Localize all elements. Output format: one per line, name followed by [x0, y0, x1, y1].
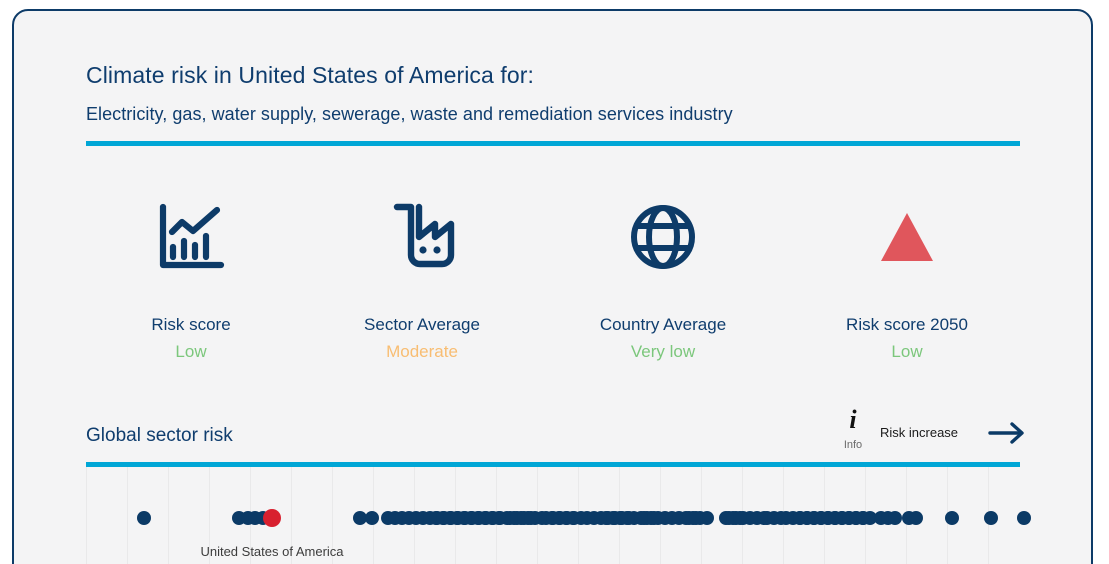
- metric-label: Risk score 2050: [802, 315, 1012, 335]
- factory-icon: [317, 191, 527, 283]
- metric-sector-average: Sector Average Moderate: [317, 191, 527, 362]
- dot-plot-point[interactable]: [574, 511, 588, 525]
- dot-plot-point[interactable]: [137, 511, 151, 525]
- dot-plot-point[interactable]: [647, 511, 661, 525]
- dot-plot-point[interactable]: [733, 511, 747, 525]
- metric-country-average: Country Average Very low: [558, 191, 768, 362]
- dot-plot-point[interactable]: [634, 511, 648, 525]
- dot-plot-point[interactable]: [689, 511, 703, 525]
- industry-subtitle: Electricity, gas, water supply, sewerage…: [86, 104, 733, 125]
- dot-plot-point[interactable]: [888, 511, 902, 525]
- dot-plot-point[interactable]: [856, 511, 870, 525]
- bar-chart-trend-icon: [86, 191, 296, 283]
- page-title: Climate risk in United States of America…: [86, 62, 534, 89]
- dot-plot-point-highlighted[interactable]: [263, 509, 281, 527]
- metric-label: Risk score: [86, 315, 296, 335]
- gridline: [86, 467, 87, 564]
- gridline: [127, 467, 128, 564]
- global-sector-risk-dotplot[interactable]: United States of America: [86, 467, 1020, 564]
- metric-value: Low: [86, 342, 296, 362]
- dot-plot-point[interactable]: [492, 511, 506, 525]
- metric-risk-score-2050: Risk score 2050 Low: [802, 191, 1012, 362]
- metric-value: Low: [802, 342, 1012, 362]
- risk-increase-label: Risk increase: [880, 425, 958, 440]
- climate-risk-card: Climate risk in United States of America…: [12, 9, 1093, 564]
- metric-label: Country Average: [558, 315, 768, 335]
- highlighted-point-label: United States of America: [200, 544, 343, 559]
- section-heading: Global sector risk: [86, 425, 233, 447]
- dot-plot-point[interactable]: [984, 511, 998, 525]
- info-caption: Info: [829, 439, 877, 451]
- arrow-right-icon[interactable]: [987, 420, 1027, 451]
- metric-risk-score: Risk score Low: [86, 191, 296, 362]
- metric-label: Sector Average: [317, 315, 527, 335]
- dot-plot-point[interactable]: [909, 511, 923, 525]
- metric-value: Moderate: [317, 342, 527, 362]
- info-button[interactable]: i Info: [829, 407, 877, 451]
- info-icon: i: [829, 407, 877, 433]
- gridline: [168, 467, 169, 564]
- metrics-row: Risk score Low Sector Average Moderate: [86, 191, 1020, 371]
- metric-value: Very low: [558, 342, 768, 362]
- dot-plot-point[interactable]: [365, 511, 379, 525]
- screenshot-root: Climate risk in United States of America…: [0, 0, 1109, 564]
- dot-plot-point[interactable]: [1017, 511, 1031, 525]
- header-divider: [86, 141, 1020, 146]
- dot-plot-point[interactable]: [524, 511, 538, 525]
- dot-plot-point[interactable]: [774, 511, 788, 525]
- card-content: Climate risk in United States of America…: [74, 11, 1091, 564]
- globe-icon: [558, 191, 768, 283]
- dot-plot-point[interactable]: [945, 511, 959, 525]
- triangle-up-icon: [802, 191, 1012, 283]
